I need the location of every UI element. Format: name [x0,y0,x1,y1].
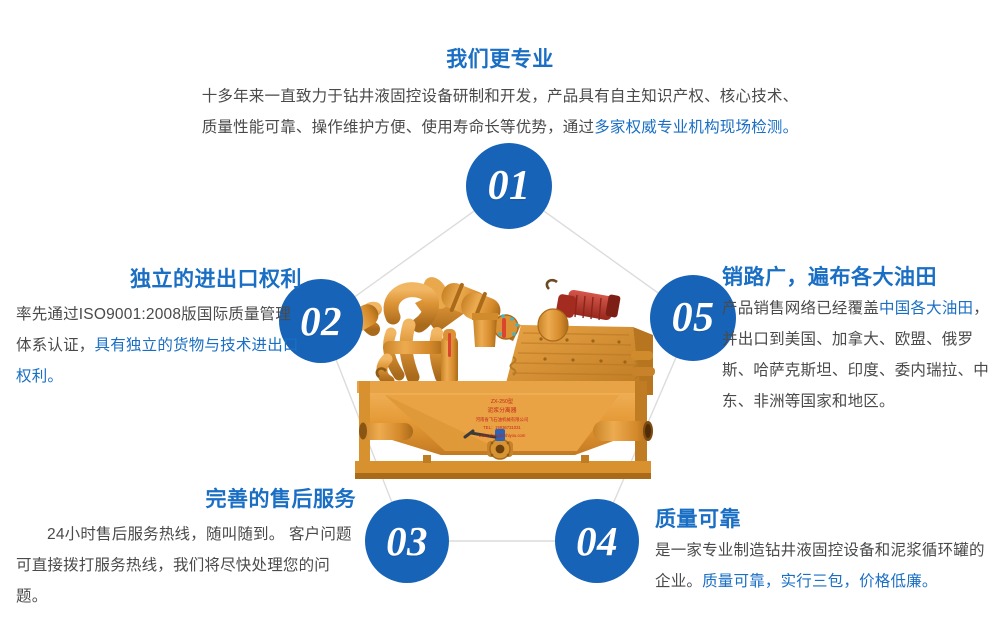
feature-05-body-plain-1: 产品销售网络已经覆盖 [722,300,879,317]
feature-02-body: 率先通过ISO9001:2008版国际质量管理体系认证，具有独立的货物与技术进出… [16,299,302,392]
promo-infographic: ZX-250型 泥浆分离器 河南省飞石油机械有限公司 TEL：159367310… [0,0,1000,642]
badge-03-label: 03 [386,517,428,565]
feature-05-body: 产品销售网络已经覆盖中国各大油田，并出口到美国、加拿大、欧盟、俄罗斯、哈萨克斯坦… [722,293,997,417]
feature-block-02: 独立的进出口权利 率先通过ISO9001:2008版国际质量管理体系认证，具有独… [16,266,302,392]
badge-01-label: 01 [488,162,531,210]
feature-block-03: 完善的售后服务 24小时售后服务热线，随叫随到。 客户问题可直接拨打服务热线，我… [16,486,356,612]
machine-shaker-screen [505,280,655,395]
badge-02-label: 02 [300,297,342,345]
feature-02-title: 独立的进出口权利 [16,266,302,293]
feature-04-body-highlight: 质量可靠，实行三包，价格低廉。 [702,573,938,590]
feature-block-05: 销路广，遍布各大油田 产品销售网络已经覆盖中国各大油田，并出口到美国、加拿大、欧… [722,264,997,417]
badge-04[interactable]: 04 [555,499,639,583]
feature-01-body: 十多年来一直致力于钻井液固控设备研制和开发，产品具有自主知识产权、核心技术、 质… [150,81,850,143]
decal-tel: TEL：15936731031 [483,425,521,430]
feature-04-title: 质量可靠 [655,506,990,533]
decal-model: ZX-250型 [491,397,513,405]
feature-01-body-line2-highlight: 多家权威专业机构现场检测。 [594,119,798,136]
feature-03-body: 24小时售后服务热线，随叫随到。 客户问题可直接拨打服务热线，我们将尽快处理您的… [16,519,356,612]
feature-01-title: 我们更专业 [150,46,850,73]
decal-name: 泥浆分离器 [488,406,517,414]
feature-01-body-line1: 十多年来一直致力于钻井液固控设备研制和开发，产品具有自主知识产权、核心技术、 [150,81,850,112]
badge-01[interactable]: 01 [466,143,552,229]
mud-separator-machine-image: ZX-250型 泥浆分离器 河南省飞石油机械有限公司 TEL：159367310… [345,255,660,485]
machine-main-tank [355,369,653,479]
decal-web: www.shengleishiyou.com [479,433,526,438]
feature-05-title: 销路广，遍布各大油田 [722,264,997,291]
feature-04-body: 是一家专业制造钻井液固控设备和泥浆循环罐的企业。质量可靠，实行三包，价格低廉。 [655,535,990,597]
badge-05-label: 05 [672,294,715,342]
feature-03-title: 完善的售后服务 [16,486,356,513]
feature-05-body-highlight: 中国各大油田 [879,300,973,317]
badge-03[interactable]: 03 [365,499,449,583]
machine-pipe-assembly [345,273,521,387]
feature-block-01: 我们更专业 十多年来一直致力于钻井液固控设备研制和开发，产品具有自主知识产权、核… [150,46,850,143]
decal-company: 河南省飞石油机械有限公司 [476,416,529,423]
feature-01-body-line2-plain: 质量性能可靠、操作维护方便、使用寿命长等优势，通过 [202,119,595,136]
feature-block-04: 质量可靠 是一家专业制造钻井液固控设备和泥浆循环罐的企业。质量可靠，实行三包，价… [655,506,990,597]
feature-01-body-line2: 质量性能可靠、操作维护方便、使用寿命长等优势，通过多家权威专业机构现场检测。 [150,112,850,143]
badge-04-label: 04 [576,517,618,565]
